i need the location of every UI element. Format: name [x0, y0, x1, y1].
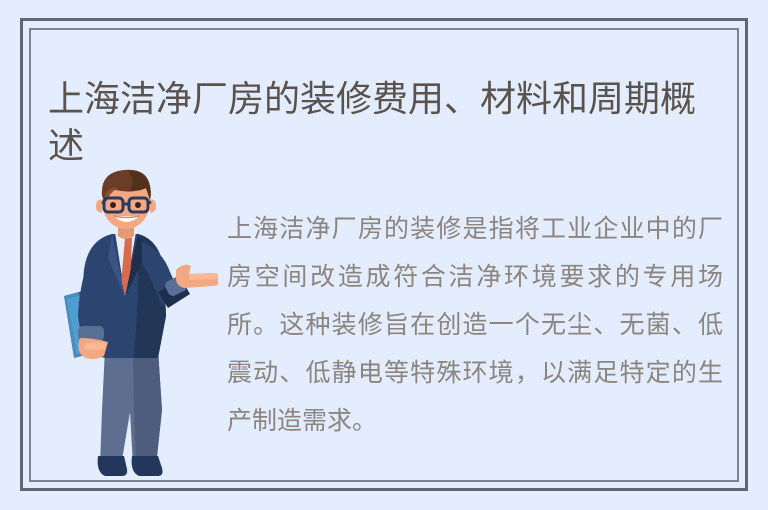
businessman-presenting-illustration	[58, 166, 218, 482]
head-group	[96, 170, 156, 229]
shoes-group	[98, 456, 163, 476]
page-root: 上海洁净厂房的装修费用、材料和周期概述	[0, 0, 768, 510]
article-paragraph: 上海洁净厂房的装修是指将工业企业中的厂房空间改造成符合洁净环境要求的专用场所。这…	[227, 205, 723, 445]
businessman-svg	[58, 166, 218, 482]
trousers-group	[100, 349, 162, 466]
page-title: 上海洁净厂房的装修费用、材料和周期概述	[48, 76, 724, 170]
